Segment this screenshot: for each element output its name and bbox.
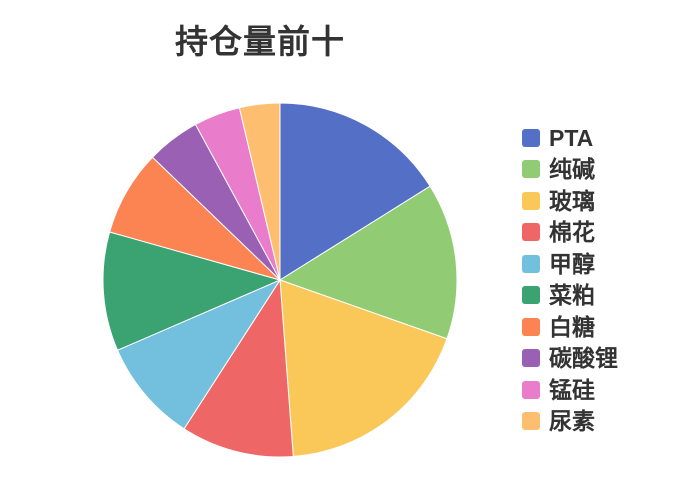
legend-swatch-icon [522,381,540,399]
legend-swatch-icon [522,160,540,178]
legend-item[interactable]: 玻璃 [522,185,692,217]
legend-label: 锰硅 [549,377,595,403]
legend-label: 尿素 [549,408,595,434]
legend-swatch-icon [522,318,540,336]
legend-item[interactable]: 锰硅 [522,374,692,406]
pie-chart-svg [0,0,520,500]
legend-swatch-icon [522,129,540,147]
legend-swatch-icon [522,286,540,304]
legend-label: 菜粕 [549,282,595,308]
legend-item[interactable]: 甲醇 [522,248,692,280]
pie-slice-group [103,103,457,457]
chart-page: 持仓量前十 PTA纯碱玻璃棉花甲醇菜粕白糖碳酸锂锰硅尿素 [0,0,700,500]
pie-chart-area [0,0,520,500]
legend-label: PTA [549,125,593,151]
legend: PTA纯碱玻璃棉花甲醇菜粕白糖碳酸锂锰硅尿素 [522,122,692,437]
legend-item[interactable]: 尿素 [522,406,692,438]
legend-label: 纯碱 [549,156,595,182]
legend-label: 碳酸锂 [549,345,618,371]
legend-swatch-icon [522,255,540,273]
legend-item[interactable]: PTA [522,122,692,154]
legend-item[interactable]: 纯碱 [522,154,692,186]
legend-label: 棉花 [549,219,595,245]
legend-label: 甲醇 [549,251,595,277]
legend-label: 玻璃 [549,188,595,214]
legend-swatch-icon [522,223,540,241]
legend-item[interactable]: 菜粕 [522,280,692,312]
legend-item[interactable]: 碳酸锂 [522,343,692,375]
legend-item[interactable]: 白糖 [522,311,692,343]
legend-label: 白糖 [549,314,595,340]
legend-item[interactable]: 棉花 [522,217,692,249]
legend-swatch-icon [522,349,540,367]
legend-swatch-icon [522,192,540,210]
legend-swatch-icon [522,412,540,430]
